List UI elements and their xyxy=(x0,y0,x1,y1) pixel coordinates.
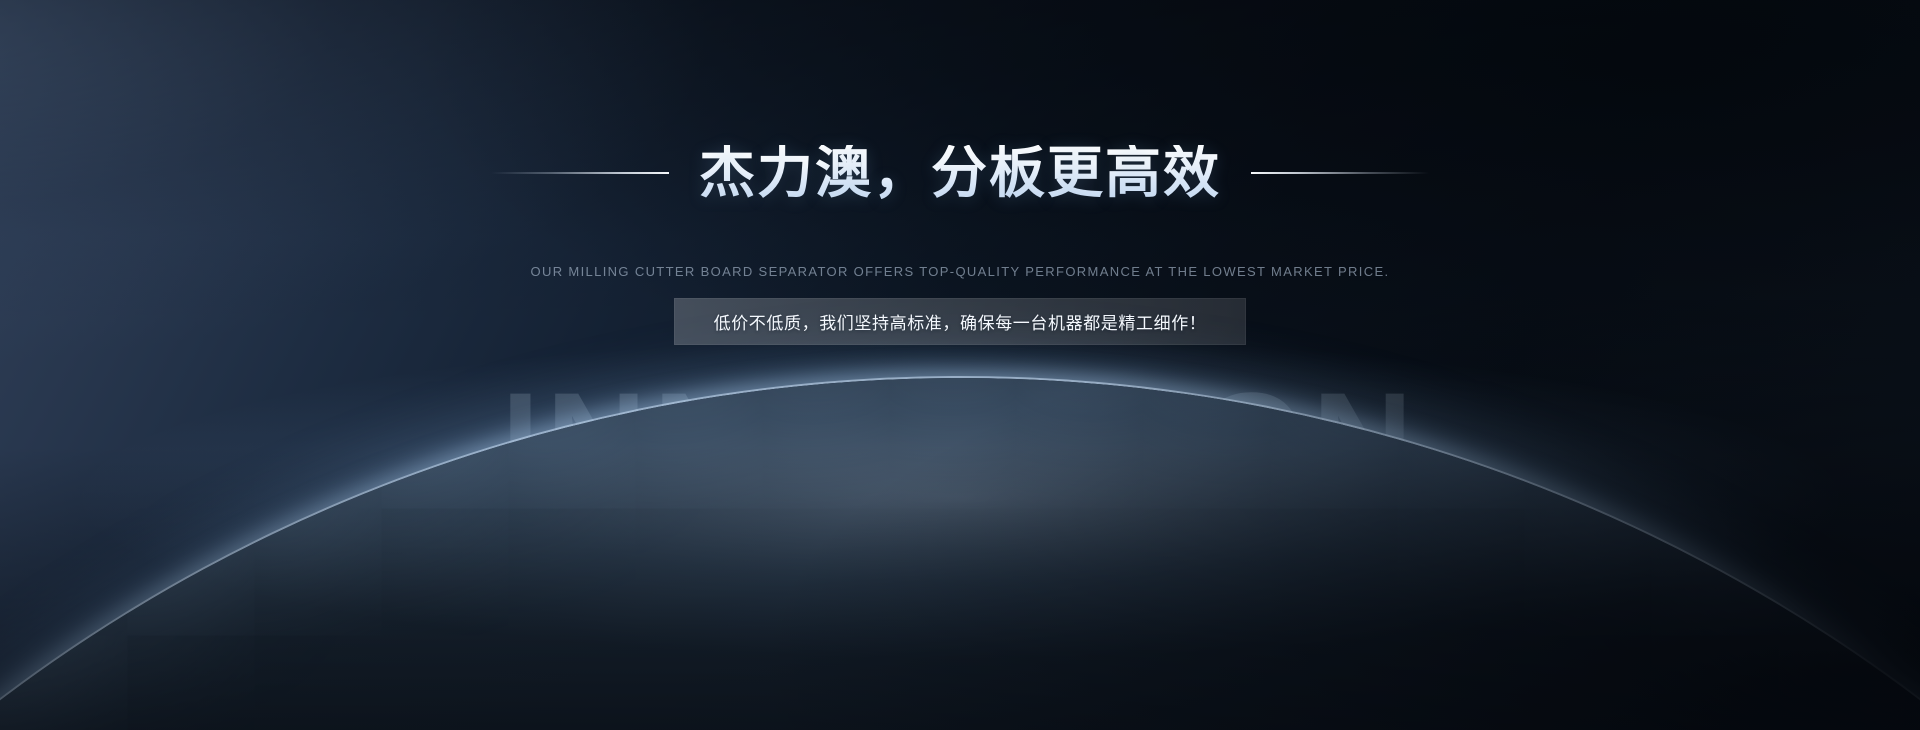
decorative-rule-left-icon xyxy=(491,172,669,174)
planet-terminator-shadow xyxy=(0,300,1920,730)
page-title: 杰力澳，分板更高效 xyxy=(699,145,1221,201)
headline-row: 杰力澳，分板更高效 xyxy=(0,140,1920,206)
hero-subtitle: OUR MILLING CUTTER BOARD SEPARATOR OFFER… xyxy=(0,264,1920,279)
decorative-rule-right-icon xyxy=(1251,172,1429,174)
planet-sphere xyxy=(0,300,1920,730)
earth-horizon xyxy=(0,300,1920,730)
promo-banner-text: 低价不低质，我们坚持高标准，确保每一台机器都是精工细作！ xyxy=(714,309,1207,334)
hero-banner: INNOVATION 杰力澳，分板更高效 OUR MILLING CUTTER … xyxy=(0,0,1920,730)
promo-banner: 低价不低质，我们坚持高标准，确保每一台机器都是精工细作！ xyxy=(674,298,1246,345)
